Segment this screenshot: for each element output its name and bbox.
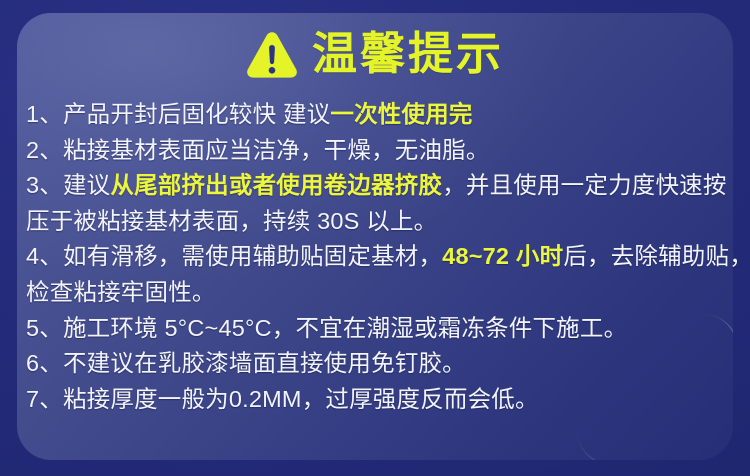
- notice-list: 1、产品开封后固化较快 建议一次性使用完2、粘接基材表面应当洁净，干燥，无油脂。…: [26, 97, 734, 417]
- notice-highlight-text: 从尾部挤出或者使用卷边器挤胶: [110, 172, 442, 198]
- notice-text: 检查粘接牢固性。: [26, 279, 216, 305]
- notice-line: 检查粘接牢固性。: [26, 275, 734, 311]
- notice-text: 7、粘接厚度一般为0.2MM，过厚强度反而会低。: [26, 386, 539, 412]
- notice-text: 3、建议: [26, 172, 110, 198]
- notice-line: 4、如有滑移，需使用辅助贴固定基材，48~72 小时后，去除辅助贴，: [26, 239, 734, 275]
- notice-screenshot: 温馨提示 1、产品开封后固化较快 建议一次性使用完2、粘接基材表面应当洁净，干燥…: [0, 0, 750, 476]
- warning-triangle-icon: [246, 30, 298, 79]
- notice-text: 4、如有滑移，需使用辅助贴固定基材，: [26, 243, 442, 269]
- notice-highlight-text: 一次性使用完: [330, 101, 472, 127]
- notice-line: 7、粘接厚度一般为0.2MM，过厚强度反而会低。: [26, 382, 734, 418]
- notice-line: 5、施工环境 5°C~45°C，不宜在潮湿或霜冻条件下施工。: [26, 311, 734, 347]
- notice-text: 1、产品开封后固化较快 建议: [26, 101, 330, 127]
- notice-line: 压于被粘接基材表面，持续 30S 以上。: [26, 204, 734, 240]
- notice-text: 2、粘接基材表面应当洁净，干燥，无油脂。: [26, 137, 490, 163]
- notice-line: 2、粘接基材表面应当洁净，干燥，无油脂。: [26, 133, 734, 169]
- notice-highlight-text: 48~72 小时: [442, 243, 563, 269]
- notice-text: 后，去除辅助贴，: [563, 243, 750, 269]
- notice-text: 压于被粘接基材表面，持续 30S 以上。: [26, 208, 437, 234]
- notice-text: 6、不建议在乳胶漆墙面直接使用免钉胶。: [26, 350, 466, 376]
- notice-line: 3、建议从尾部挤出或者使用卷边器挤胶，并且使用一定力度快速按: [26, 168, 734, 204]
- notice-text: 5、施工环境 5°C~45°C，不宜在潮湿或霜冻条件下施工。: [26, 315, 627, 341]
- notice-header: 温馨提示: [0, 20, 750, 86]
- notice-line: 6、不建议在乳胶漆墙面直接使用免钉胶。: [26, 346, 734, 382]
- notice-text: ，并且使用一定力度快速按: [442, 172, 726, 198]
- page-title: 温馨提示: [312, 31, 504, 76]
- notice-line: 1、产品开封后固化较快 建议一次性使用完: [26, 97, 734, 133]
